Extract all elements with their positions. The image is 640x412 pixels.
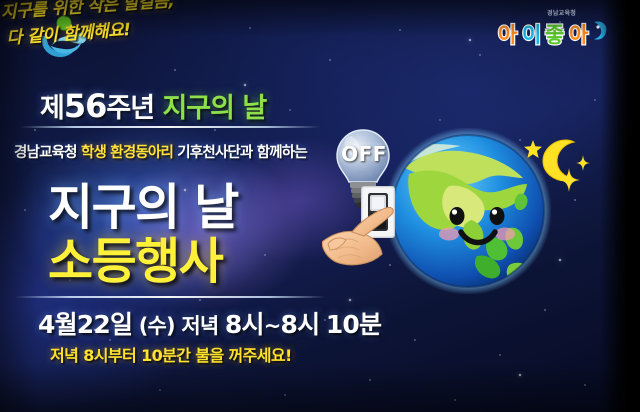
svg-text:아: 아 xyxy=(569,23,589,47)
anniversary-number: 56 xyxy=(64,87,107,125)
hand-pressing-switch xyxy=(322,198,396,270)
anniversary-prefix: 제 xyxy=(40,93,64,124)
svg-text:이: 이 xyxy=(522,23,541,47)
subtitle-part1: 경남교육청 xyxy=(14,145,77,161)
date-end-hour: 8시 xyxy=(281,310,320,339)
event-subtitle: 경남교육청 학생 환경동아리 기후천사단과 함께하는 xyxy=(14,141,307,162)
date-end-minute: 10분 xyxy=(326,310,381,339)
divider-top xyxy=(20,126,320,128)
right-edge-vignette xyxy=(600,0,640,412)
instruction-text: 저녁 8시부터 10분간 불을 꺼주세요! xyxy=(50,342,292,366)
sparkle-icon-2 xyxy=(576,155,590,171)
date-tilde: ~ xyxy=(264,314,281,338)
svg-text:아: 아 xyxy=(498,23,518,47)
subtitle-part3: 기후천사단과 함께하는 xyxy=(177,145,307,161)
star-icon-1 xyxy=(524,140,542,158)
anniversary-highlight: 지구의 날 xyxy=(162,93,266,124)
event-date-time: 4월22일 (수) 저녁 8시~8시 10분 xyxy=(38,305,381,341)
main-title-line2: 소등행사 xyxy=(48,222,222,293)
subtitle-highlight: 학생 환경동아리 xyxy=(81,145,173,161)
date-month-day: 4월22일 xyxy=(38,310,132,339)
divider-middle xyxy=(14,296,326,298)
bulb-off-label: OFF xyxy=(340,142,388,166)
anniversary-title: 제56주년 지구의 날 xyxy=(40,86,266,125)
earth-day-poster: 경남교육청 아 이 좋 아 제56주년 지구의 날 경남교육청 학생 환경동아리… xyxy=(0,0,640,412)
anniversary-suffix: 주년 xyxy=(106,93,154,124)
sparkle-icon-1 xyxy=(558,168,580,192)
date-evening: 저녁 xyxy=(181,314,218,338)
ai-joha-wordmark: 아 이 좋 아 xyxy=(495,16,613,50)
date-weekday: (수) xyxy=(139,314,175,338)
svg-text:좋: 좋 xyxy=(545,23,564,47)
date-start: 8시 xyxy=(225,310,264,339)
